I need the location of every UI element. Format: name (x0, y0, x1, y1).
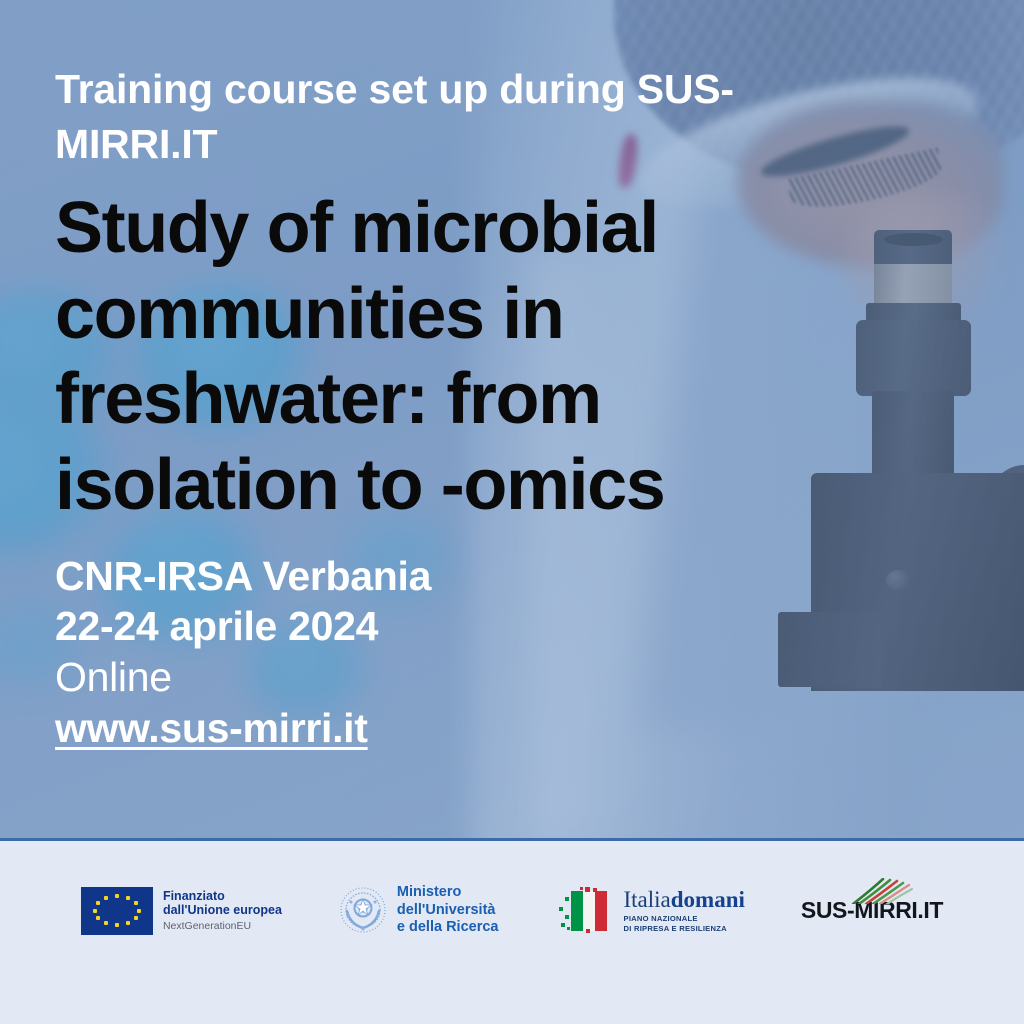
eu-line-1: Finanziato (163, 889, 282, 904)
ministry-logo-text: Ministero dell'Università e della Ricerc… (397, 884, 499, 936)
funding-logo-bar: Finanziato dall'Unione europea NextGener… (0, 838, 1024, 1024)
eu-star-icon (115, 923, 119, 927)
eu-star-icon (126, 921, 130, 925)
page-title: Study of microbial communities in freshw… (55, 186, 755, 529)
eu-star-icon (126, 896, 130, 900)
italia-domani-sub-2: DI RIPRESA E RESILIENZA (624, 924, 745, 934)
website-link[interactable]: www.sus-mirri.it (55, 703, 368, 754)
eu-logo-text: Finanziato dall'Unione europea NextGener… (163, 889, 282, 932)
ministry-line-2: dell'Università (397, 902, 499, 919)
ministry-line-3: e della Ricerca (397, 919, 499, 936)
italian-republic-emblem-icon (338, 885, 388, 935)
course-eyebrow: Training course set up during SUS-MIRRI.… (55, 62, 845, 172)
eu-star-icon (96, 901, 100, 905)
sus-mirri-logo: SUS-MIRRI.IT (801, 897, 943, 924)
grass-strokes-icon (849, 878, 913, 904)
dates-line: 22-24 aprile 2024 (55, 601, 845, 652)
poster-content: Training course set up during SUS-MIRRI.… (55, 62, 845, 754)
eu-flag-icon (81, 887, 153, 935)
ministry-line-1: Ministero (397, 884, 499, 901)
eu-star-icon (93, 909, 97, 913)
italia-domani-sub-1: PIANO NAZIONALE (624, 914, 745, 924)
ministry-logo: Ministero dell'Università e della Ricerc… (338, 884, 499, 936)
eu-star-icon (134, 916, 138, 920)
word-domani: domani (671, 887, 745, 912)
eu-star-icon (115, 894, 119, 898)
italia-domani-wordmark: Italiadomani (624, 888, 745, 911)
eu-star-icon (104, 896, 108, 900)
eu-funding-logo: Finanziato dall'Unione europea NextGener… (81, 887, 282, 935)
event-poster: Training course set up during SUS-MIRRI.… (0, 0, 1024, 1024)
eu-line-3: NextGenerationEU (163, 920, 282, 932)
italia-domani-text: Italiadomani PIANO NAZIONALE DI RIPRESA … (624, 888, 745, 934)
venue-line: CNR-IRSA Verbania (55, 551, 845, 602)
eu-star-icon (96, 916, 100, 920)
eu-line-2: dall'Unione europea (163, 903, 282, 918)
eu-star-icon (134, 901, 138, 905)
eu-star-icon (104, 921, 108, 925)
mode-line: Online (55, 652, 845, 703)
italian-flag-icon (555, 887, 617, 935)
word-italia: Italia (624, 887, 671, 912)
event-details: CNR-IRSA Verbania 22-24 aprile 2024 Onli… (55, 551, 845, 754)
eu-star-icon (137, 909, 141, 913)
italia-domani-logo: Italiadomani PIANO NAZIONALE DI RIPRESA … (555, 887, 745, 935)
